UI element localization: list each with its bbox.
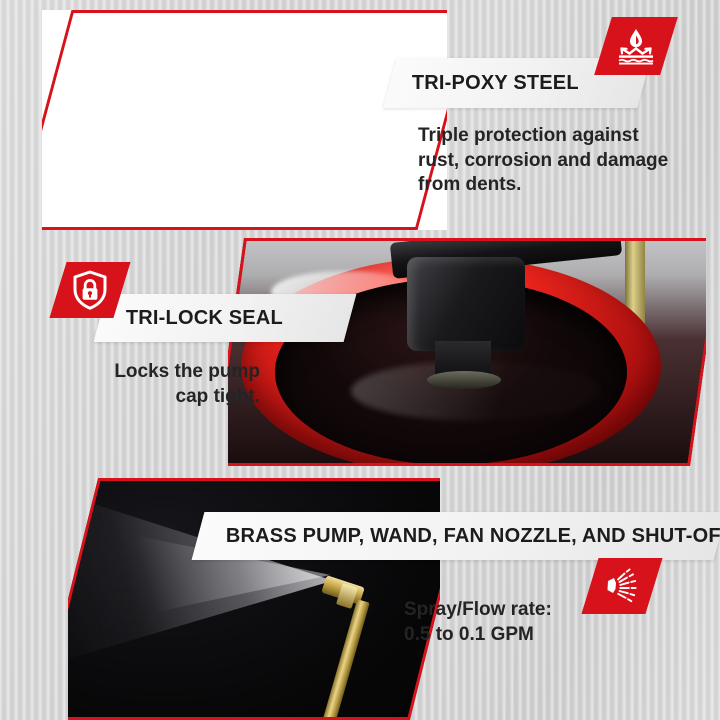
pump-cap-graphic [407,257,525,351]
panel-title: TRI-LOCK SEAL [126,307,283,330]
water-repellent-icon [594,17,678,75]
panel-body-text: Locks the pump cap tight. [70,360,260,409]
panel-title-banner-brass-pump: BRASS PUMP, WAND, FAN NOZZLE, AND SHUT-O… [192,512,720,560]
product-photo-tri-lock-seal [228,238,706,466]
seal-collar-graphic [427,371,501,389]
panel-title: BRASS PUMP, WAND, FAN NOZZLE, AND SHUT-O… [226,525,720,548]
feature-infographic: TRI-POXY STEEL Triple protection against… [0,0,720,720]
photo-artwork [228,238,706,466]
photo-border [228,238,706,466]
panel-title-banner-tri-lock-seal: TRI-LOCK SEAL [94,294,357,342]
product-photo-tri-poxy-steel [42,10,447,230]
panel-body-text: Triple protection against rust, corrosio… [418,124,708,198]
panel-title: TRI-POXY STEEL [412,72,579,95]
photo-border [42,10,447,230]
